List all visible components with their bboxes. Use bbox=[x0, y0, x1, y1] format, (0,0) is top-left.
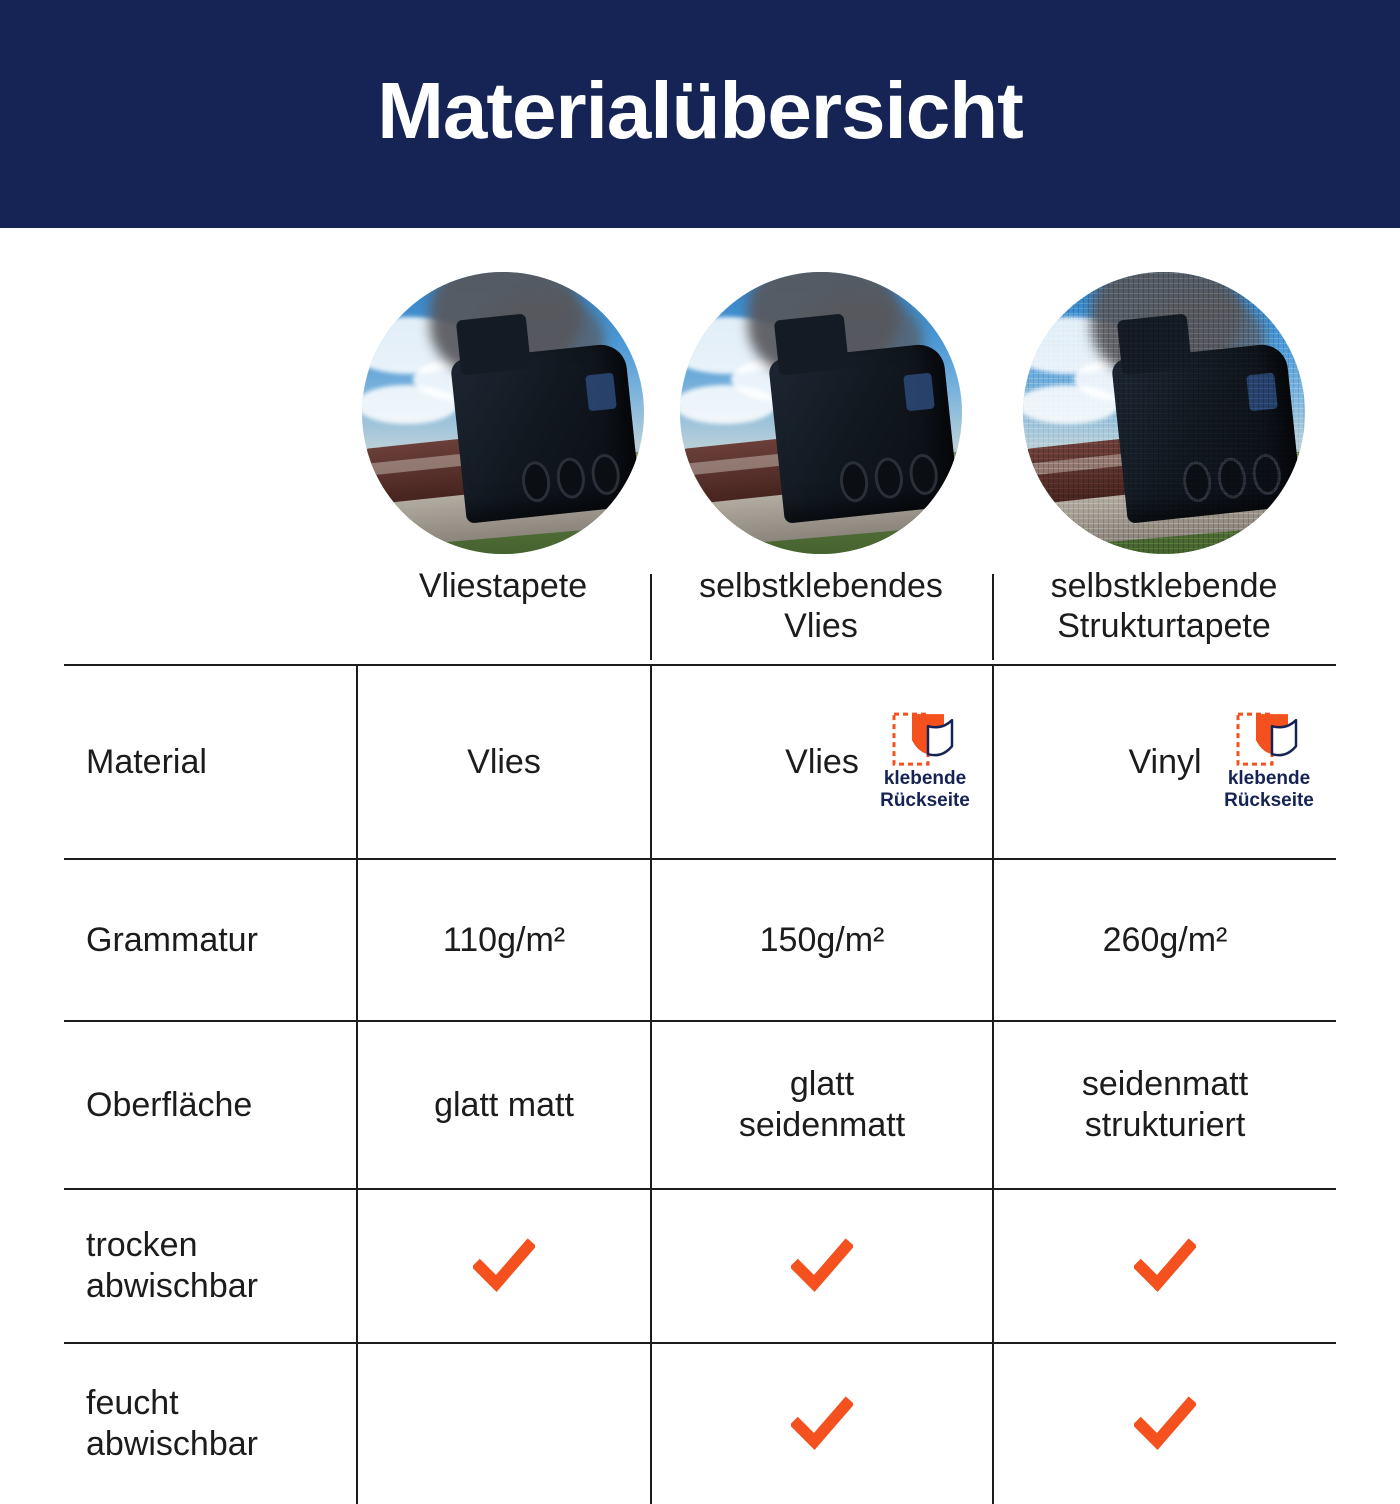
cell-oberflaeche-2: glatt seidenmatt bbox=[650, 1022, 992, 1188]
row-label-feucht-abwischbar: feucht abwischbar bbox=[64, 1344, 356, 1504]
cell-feucht-1 bbox=[356, 1344, 650, 1504]
material-swatch-strukturtapete bbox=[1023, 272, 1305, 554]
cell-grammatur-2: 150g/m² bbox=[650, 860, 992, 1020]
table-row-material: Material Vlies Vlies klebende Rückseite … bbox=[64, 664, 1336, 858]
locomotive-image bbox=[1023, 272, 1305, 554]
cell-material-2-text: Vlies bbox=[785, 742, 859, 783]
adhesive-back-badge: klebende Rückseite bbox=[1210, 712, 1328, 812]
cell-feucht-2 bbox=[650, 1344, 992, 1504]
cell-material-3: Vinyl klebende Rückseite bbox=[992, 666, 1336, 858]
material-swatch-vliestapete bbox=[362, 272, 644, 554]
swatch-cell-3 bbox=[992, 272, 1336, 560]
adhesive-back-badge: klebende Rückseite bbox=[866, 712, 984, 812]
column-header-2-label: selbstklebendes Vlies bbox=[660, 566, 982, 646]
cell-grammatur-3: 260g/m² bbox=[992, 860, 1336, 1020]
column-header-3: selbstklebende Strukturtapete bbox=[992, 560, 1336, 646]
swatch-cell-1 bbox=[356, 272, 650, 560]
material-swatch-selbstklebendes-vlies bbox=[680, 272, 962, 554]
locomotive-image bbox=[680, 272, 962, 554]
peeling-corner-icon bbox=[1236, 712, 1302, 766]
check-icon bbox=[1134, 1393, 1196, 1455]
adhesive-badge-line1: klebende bbox=[866, 768, 984, 790]
column-header-3-label: selbstklebende Strukturtapete bbox=[1002, 566, 1326, 646]
cell-material-3-text: Vinyl bbox=[1128, 742, 1201, 783]
cell-material-1: Vlies bbox=[356, 666, 650, 858]
cell-material-2: Vlies klebende Rückseite bbox=[650, 666, 992, 858]
cell-grammatur-1: 110g/m² bbox=[356, 860, 650, 1020]
cell-oberflaeche-1: glatt matt bbox=[356, 1022, 650, 1188]
comparison-table: Vliestapete selbstklebendes Vlies selbst… bbox=[64, 228, 1336, 1504]
column-header-1-label: Vliestapete bbox=[366, 566, 640, 606]
cell-trocken-2 bbox=[650, 1190, 992, 1342]
page-header: Materialübersicht bbox=[0, 0, 1400, 228]
column-header-spacer bbox=[64, 560, 356, 566]
column-header-2: selbstklebendes Vlies bbox=[650, 560, 992, 646]
row-label-oberflaeche: Oberfläche bbox=[64, 1022, 356, 1188]
row-label-material: Material bbox=[64, 666, 356, 858]
swatch-row bbox=[64, 228, 1336, 560]
swatch-cell-2 bbox=[650, 272, 992, 560]
check-icon bbox=[791, 1235, 853, 1297]
table-row-trocken-abwischbar: trocken abwischbar bbox=[64, 1188, 1336, 1342]
cell-trocken-3 bbox=[992, 1190, 1336, 1342]
structure-texture-overlay bbox=[1023, 272, 1305, 554]
material-overview-page: Materialübersicht bbox=[0, 0, 1400, 1400]
table-row-grammatur: Grammatur 110g/m² 150g/m² 260g/m² bbox=[64, 858, 1336, 1020]
adhesive-badge-line2: Rückseite bbox=[1210, 790, 1328, 812]
table-row-oberflaeche: Oberfläche glatt matt glatt seidenmatt s… bbox=[64, 1020, 1336, 1188]
row-label-grammatur: Grammatur bbox=[64, 860, 356, 1020]
check-icon bbox=[473, 1235, 535, 1297]
check-icon bbox=[791, 1393, 853, 1455]
page-title: Materialübersicht bbox=[377, 71, 1022, 151]
check-icon bbox=[1134, 1235, 1196, 1297]
row-label-trocken-abwischbar: trocken abwischbar bbox=[64, 1190, 356, 1342]
column-header-1: Vliestapete bbox=[356, 560, 650, 606]
cell-trocken-1 bbox=[356, 1190, 650, 1342]
peeling-corner-icon bbox=[892, 712, 958, 766]
cell-oberflaeche-3: seidenmatt strukturiert bbox=[992, 1022, 1336, 1188]
adhesive-badge-line2: Rückseite bbox=[866, 790, 984, 812]
cell-feucht-3 bbox=[992, 1344, 1336, 1504]
table-row-feucht-abwischbar: feucht abwischbar bbox=[64, 1342, 1336, 1504]
column-header-row: Vliestapete selbstklebendes Vlies selbst… bbox=[64, 560, 1336, 664]
adhesive-badge-line1: klebende bbox=[1210, 768, 1328, 790]
locomotive-image bbox=[362, 272, 644, 554]
